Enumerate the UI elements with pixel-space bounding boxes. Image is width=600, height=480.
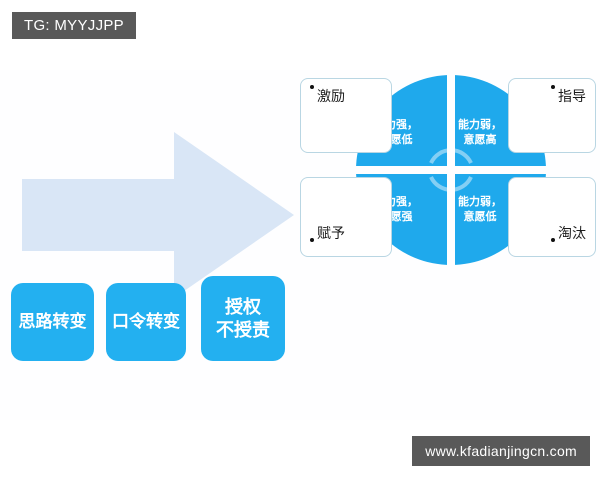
corner-label-bottom-left[interactable]: 赋予 xyxy=(300,177,392,257)
bullet-dot-icon xyxy=(551,85,555,89)
corner-label-bottom-right[interactable]: 淘汰 xyxy=(508,177,596,257)
process-step-2-label: 授权 不授责 xyxy=(216,296,270,341)
process-step-1[interactable]: 口令转变 xyxy=(106,283,186,361)
process-step-1-label: 口令转变 xyxy=(112,311,180,332)
slide-canvas: 思路转变 口令转变 授权 不授责 xyxy=(0,70,600,420)
corner-label-top-right-text: 指导 xyxy=(558,86,586,106)
corner-label-bottom-right-text: 淘汰 xyxy=(558,223,586,243)
bullet-dot-icon xyxy=(551,238,555,242)
process-step-2[interactable]: 授权 不授责 xyxy=(201,276,285,361)
process-step-0-label: 思路转变 xyxy=(19,311,87,332)
refresh-cycle-icon xyxy=(431,150,471,190)
process-flow-group: 思路转变 口令转变 授权 不授责 xyxy=(0,70,300,420)
bullet-dot-icon xyxy=(310,85,314,89)
process-step-0[interactable]: 思路转变 xyxy=(11,283,94,361)
watermark-bottom-right: www.kfadianjingcn.com xyxy=(412,436,590,466)
watermark-top-left: TG: MYYJJPP xyxy=(12,12,136,39)
bullet-dot-icon xyxy=(310,238,314,242)
corner-label-top-left-text: 激励 xyxy=(317,86,345,106)
corner-label-top-left[interactable]: 激励 xyxy=(300,78,392,153)
corner-label-top-right[interactable]: 指导 xyxy=(508,78,596,153)
quadrant-diagram-group: 能力强， 意愿低 能力弱， 意愿高 能力强， 意愿强 能力弱， 意愿低 激励 指… xyxy=(290,70,600,420)
corner-label-bottom-left-text: 赋予 xyxy=(317,223,345,243)
